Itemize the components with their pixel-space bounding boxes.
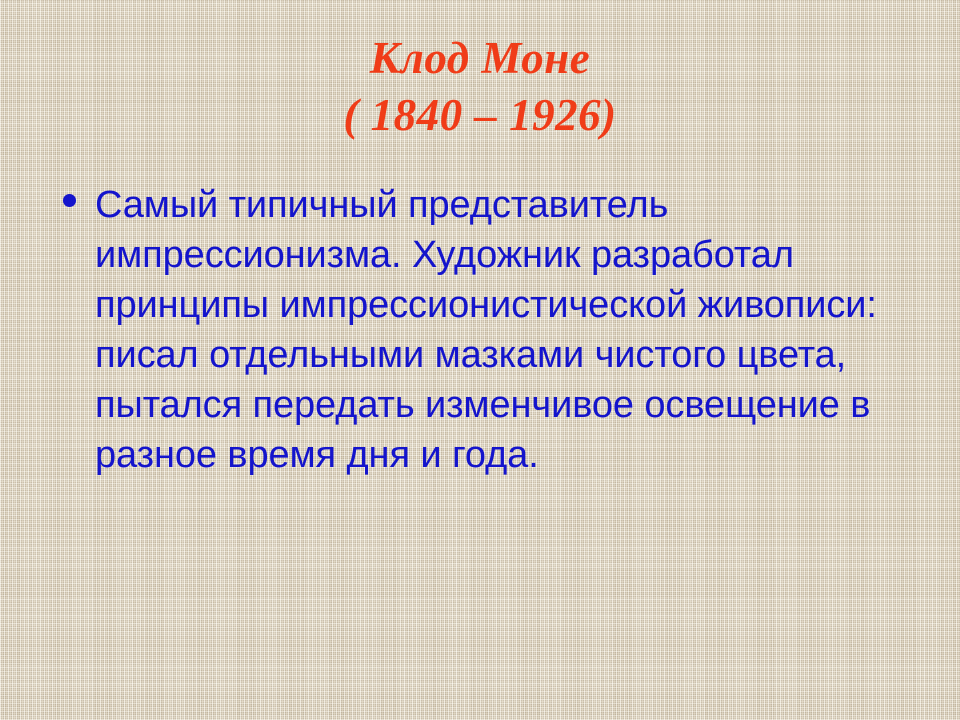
title-line-dates: ( 1840 – 1926) — [0, 87, 960, 144]
round-bullet-icon — [63, 194, 76, 207]
bullet-list-item: Самый типичный представитель импрессиони… — [58, 180, 918, 480]
slide-body: Самый типичный представитель импрессиони… — [58, 180, 918, 480]
presentation-slide: Клод Моне ( 1840 – 1926) Самый типичный … — [0, 0, 960, 720]
bullet-item-text: Самый типичный представитель импрессиони… — [95, 184, 877, 476]
slide-title: Клод Моне ( 1840 – 1926) — [0, 30, 960, 144]
title-line-name: Клод Моне — [0, 30, 960, 87]
